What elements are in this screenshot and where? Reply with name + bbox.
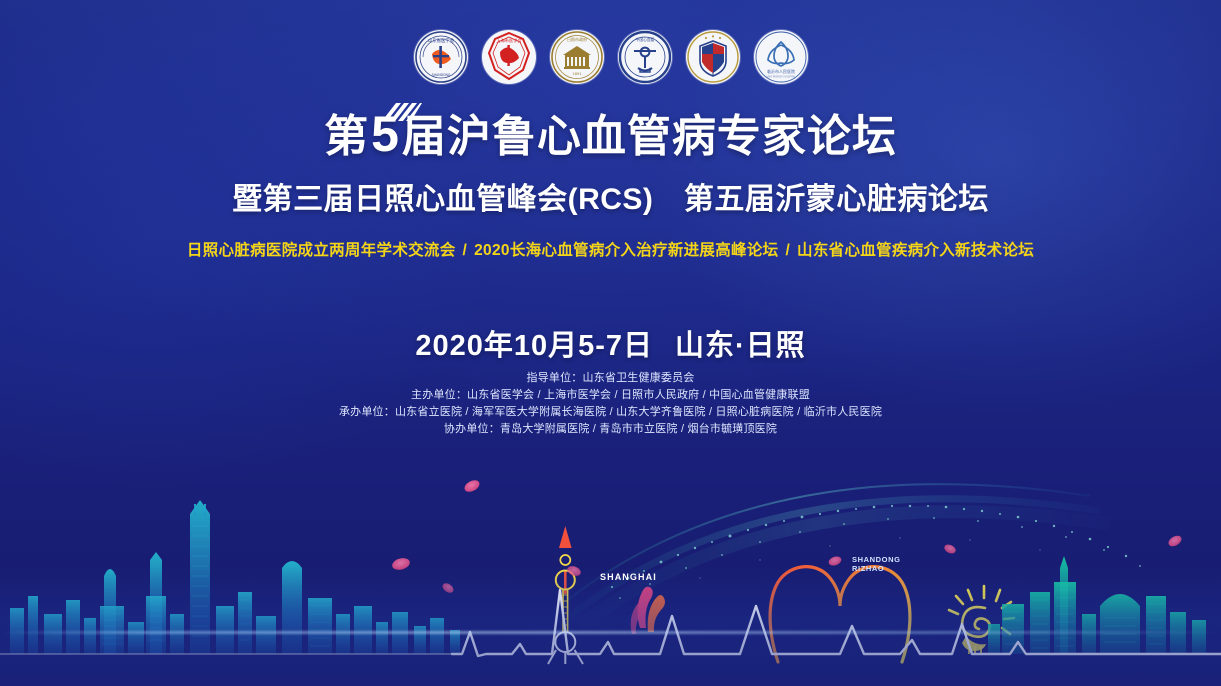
subtitle: 暨第三届日照心血管峰会(RCS) 第五届沂蒙心脏病论坛 — [0, 174, 1221, 218]
credit-line-organizer: 承办单位：山东省立医院 / 海军军医大学附属长海医院 / 山东大学齐鲁医院 / … — [0, 404, 1221, 421]
title-block: 第5届沪鲁心血管病专家论坛 暨第三届日照心血管峰会(RCS) 第五届沂蒙心脏病论… — [0, 106, 1221, 260]
credit-line-host: 主办单位：山东省医学会 / 上海市医学会 / 日照市人民政府 / 中国心血管健康… — [0, 387, 1221, 404]
heart-outline — [770, 567, 910, 662]
svg-text:山东省医学会: 山东省医学会 — [427, 37, 454, 44]
main-title: 第5届沪鲁心血管病专家论坛 — [324, 106, 897, 162]
linyi-peoples-hospital-logo: 临沂市人民医院 LINYI PEOPLE'S HOSPITAL — [754, 30, 808, 84]
date-location-line: 2020年10月5-7日山东·日照 — [0, 322, 1221, 364]
sub-event-3: 山东省心血管疾病介入新技术论坛 — [797, 242, 1034, 259]
credit-line-guidance: 指导单位：山东省卫生健康委员会 — [0, 370, 1221, 387]
shandong-medical-association-logo: 山东省医学会 SHANDONG — [414, 30, 468, 84]
event-date: 2020年10月5-7日 — [415, 330, 653, 362]
conference-poster: 山东省医学会 SHANDONG 上海市医学会 — [0, 0, 1221, 686]
main-title-prefix: 第 — [324, 112, 369, 161]
event-location: 山东·日照 — [675, 330, 806, 362]
changhai-hospital-logo — [686, 30, 740, 84]
rizhao-skyline — [988, 556, 1206, 654]
shandong-label-line2: RIZHAO — [852, 565, 901, 574]
svg-text:日照市政府: 日照市政府 — [567, 36, 587, 42]
shanghai-medical-association-logo: 上海市医学会 — [482, 30, 536, 84]
shanghai-label: SHANGHAI — [600, 572, 657, 582]
shandong-rizhao-label: SHANDONG RIZHAO — [852, 556, 901, 573]
sub-events-line: 日照心脏病医院成立两周年学术交流会/2020长海心血管病介入治疗新进展高峰论坛/… — [0, 238, 1221, 260]
svg-text:上海市医学会: 上海市医学会 — [496, 37, 522, 44]
sub-events-separator-1: / — [456, 242, 475, 259]
bottom-illustration — [0, 456, 1221, 686]
svg-text:临沂市人民医院: 临沂市人民医院 — [767, 68, 795, 74]
svg-text:中国心血管: 中国心血管 — [635, 37, 654, 42]
credits-block: 指导单位：山东省卫生健康委员会 主办单位：山东省医学会 / 上海市医学会 / 日… — [0, 370, 1221, 438]
main-title-number: 5 — [369, 106, 402, 162]
svg-text:LINYI PEOPLE'S HOSPITAL: LINYI PEOPLE'S HOSPITAL — [766, 76, 796, 79]
rizhao-government-logo: 日照市政府 1891 — [550, 30, 604, 84]
sub-event-1: 日照心脏病医院成立两周年学术交流会 — [187, 242, 456, 259]
china-cardiovascular-health-alliance-logo: 中国心血管 — [618, 30, 672, 84]
sub-events-separator-2: / — [778, 242, 797, 259]
svg-text:SHANDONG: SHANDONG — [431, 73, 450, 77]
sub-event-2: 2020长海心血管病介入治疗新进展高峰论坛 — [474, 242, 778, 259]
svg-text:1891: 1891 — [572, 72, 581, 76]
credit-line-coorganizer: 协办单位：青岛大学附属医院 / 青岛市市立医院 / 烟台市毓璜顶医院 — [0, 421, 1221, 438]
main-title-suffix: 届沪鲁心血管病专家论坛 — [402, 112, 897, 161]
organizer-logo-row: 山东省医学会 SHANDONG 上海市医学会 — [0, 30, 1221, 84]
shanghai-skyline — [10, 500, 460, 654]
